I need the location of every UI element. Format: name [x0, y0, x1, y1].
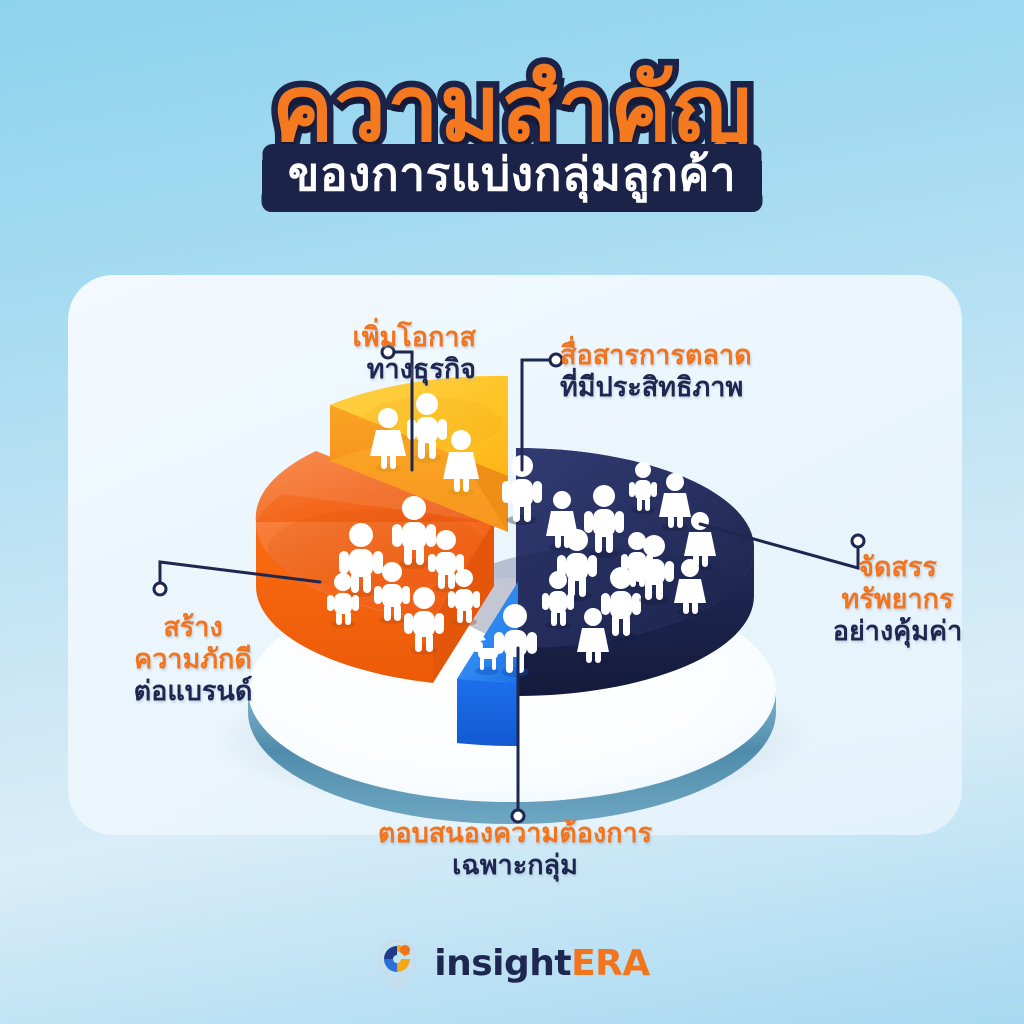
callout-loyalty: สร้าง ความภักดี ต่อแบรนด์	[78, 612, 308, 708]
callout-marketing-line2: ที่มีประสิทธิภาพ	[560, 372, 890, 404]
callout-resource-line3: อย่างคุ้มค่า	[790, 616, 1005, 648]
page-title: ความสำคัญ ของการแบ่งกลุ่มลูกค้า	[0, 62, 1024, 213]
callout-resource-line2: ทรัพยากร	[790, 584, 1005, 616]
callout-opportunity-line1: เพิ่มโอกาส	[236, 322, 476, 354]
brand-logo: insightERA	[0, 938, 1024, 992]
callout-loyalty-line2: ความภักดี	[78, 644, 308, 676]
callout-marketing-line1: สื่อสารการตลาด	[560, 340, 890, 372]
logo-text-secondary: ERA	[571, 943, 650, 984]
callout-opportunity-line2: ทางธุรกิจ	[236, 354, 476, 386]
lightbulb-insight-icon	[374, 938, 420, 988]
callout-opportunity: เพิ่มโอกาส ทางธุรกิจ	[236, 322, 476, 386]
logo-text-primary: insight	[434, 943, 571, 984]
title-sub-text: ของการแบ่งกลุ่มลูกค้า	[288, 147, 736, 201]
callout-loyalty-line3: ต่อแบรนด์	[78, 676, 308, 708]
callout-loyalty-line1: สร้าง	[78, 612, 308, 644]
subtitle-banner: ของการแบ่งกลุ่มลูกค้า	[262, 140, 762, 214]
callout-needs-line2: เฉพาะกลุ่ม	[340, 850, 690, 882]
callout-needs: ตอบสนองความต้องการ เฉพาะกลุ่ม	[340, 818, 690, 882]
callout-resource: จัดสรร ทรัพยากร อย่างคุ้มค่า	[790, 552, 1005, 648]
callout-resource-line1: จัดสรร	[790, 552, 1005, 584]
callout-needs-line1: ตอบสนองความต้องการ	[340, 818, 690, 850]
callout-marketing: สื่อสารการตลาด ที่มีประสิทธิภาพ	[560, 340, 890, 404]
